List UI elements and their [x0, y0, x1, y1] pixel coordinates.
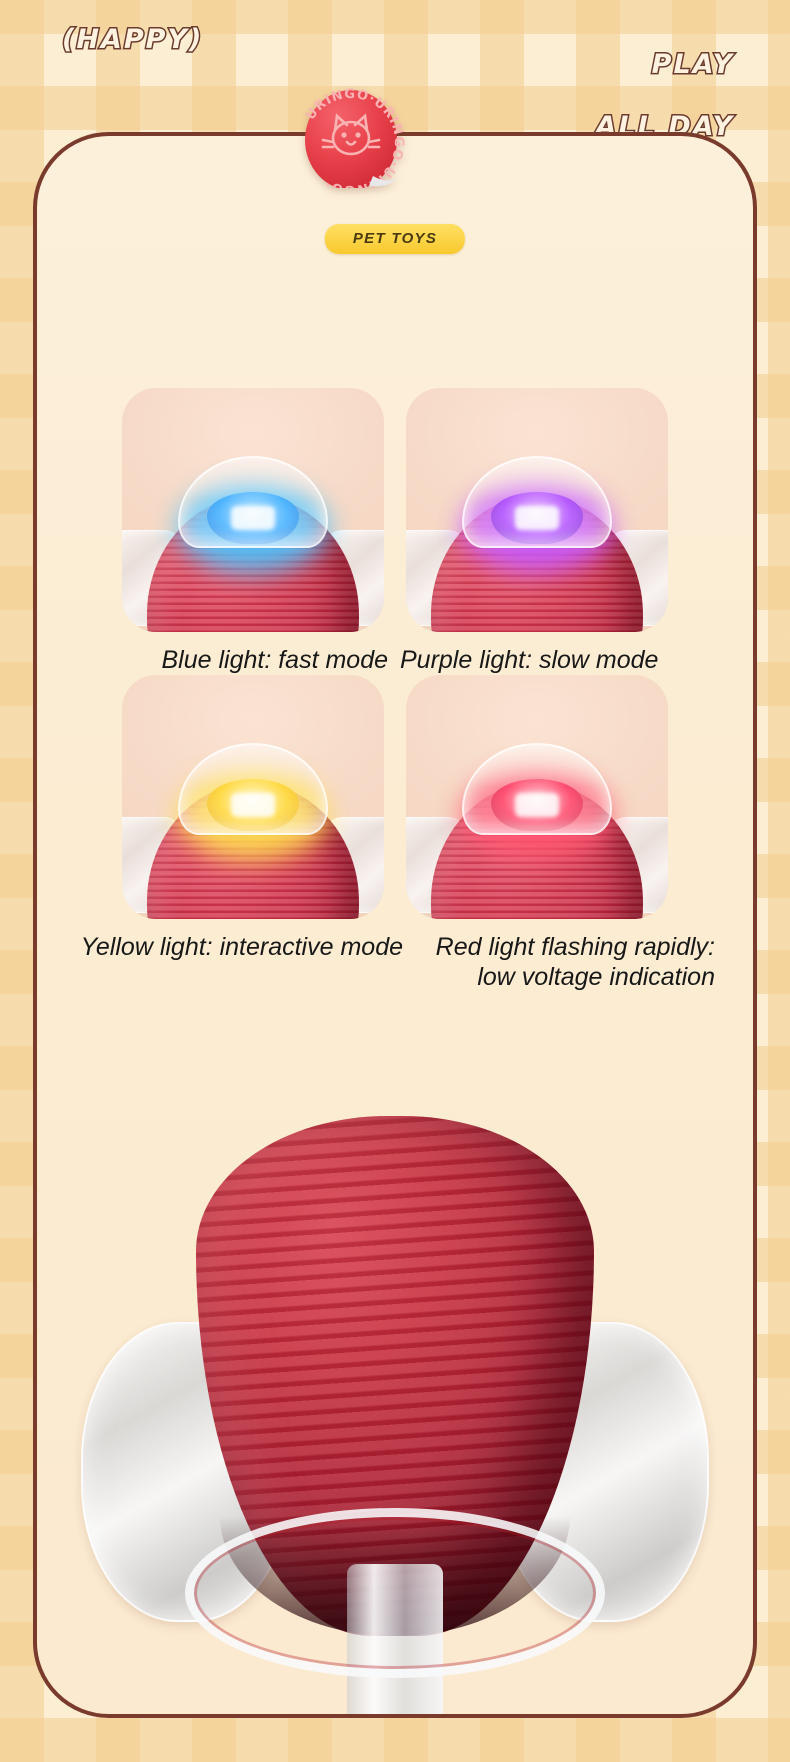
mode-thumb-yellow — [122, 675, 384, 919]
sticker-peel-corner — [369, 176, 399, 186]
clear-dome-cap — [178, 456, 328, 548]
caption-red-mode: Red light flashing rapidly: low voltage … — [415, 933, 715, 992]
happy-wordmark: (HAPPY) — [62, 24, 203, 55]
product-card: PET TOYS — [33, 132, 757, 1718]
brand-sticker: URINGO·URINGO·URINGO· — [287, 80, 415, 188]
mode-cell-blue — [122, 388, 384, 632]
hero-outer-ring — [185, 1508, 605, 1678]
hero-product-photo — [37, 1094, 753, 1714]
pet-toys-badge: PET TOYS — [325, 224, 465, 254]
clear-dome-cap — [462, 743, 612, 835]
caption-row-2: Yellow light: interactive mode Red light… — [37, 933, 753, 992]
caption-purple-mode: Purple light: slow mode — [400, 646, 700, 675]
mode-thumb-blue — [122, 388, 384, 632]
light-mode-grid: Blue light: fast mode Purple light: slow… — [37, 388, 753, 992]
clear-dome-cap — [178, 743, 328, 835]
mode-thumb-purple — [406, 388, 668, 632]
clear-dome-cap — [462, 456, 612, 548]
mode-cell-red — [406, 675, 668, 919]
caption-row-1: Blue light: fast mode Purple light: slow… — [37, 646, 753, 675]
mode-row-1 — [37, 388, 753, 632]
caption-yellow-mode: Yellow light: interactive mode — [75, 933, 405, 992]
infographic-page: (HAPPY) PLAY ALL DAY URINGO·URINGO·URING… — [0, 0, 790, 1762]
caption-blue-mode: Blue light: fast mode — [90, 646, 390, 675]
mode-row-2 — [37, 675, 753, 919]
mode-cell-yellow — [122, 675, 384, 919]
mode-cell-purple — [406, 388, 668, 632]
mode-thumb-red — [406, 675, 668, 919]
play-line-1: PLAY — [652, 49, 734, 80]
